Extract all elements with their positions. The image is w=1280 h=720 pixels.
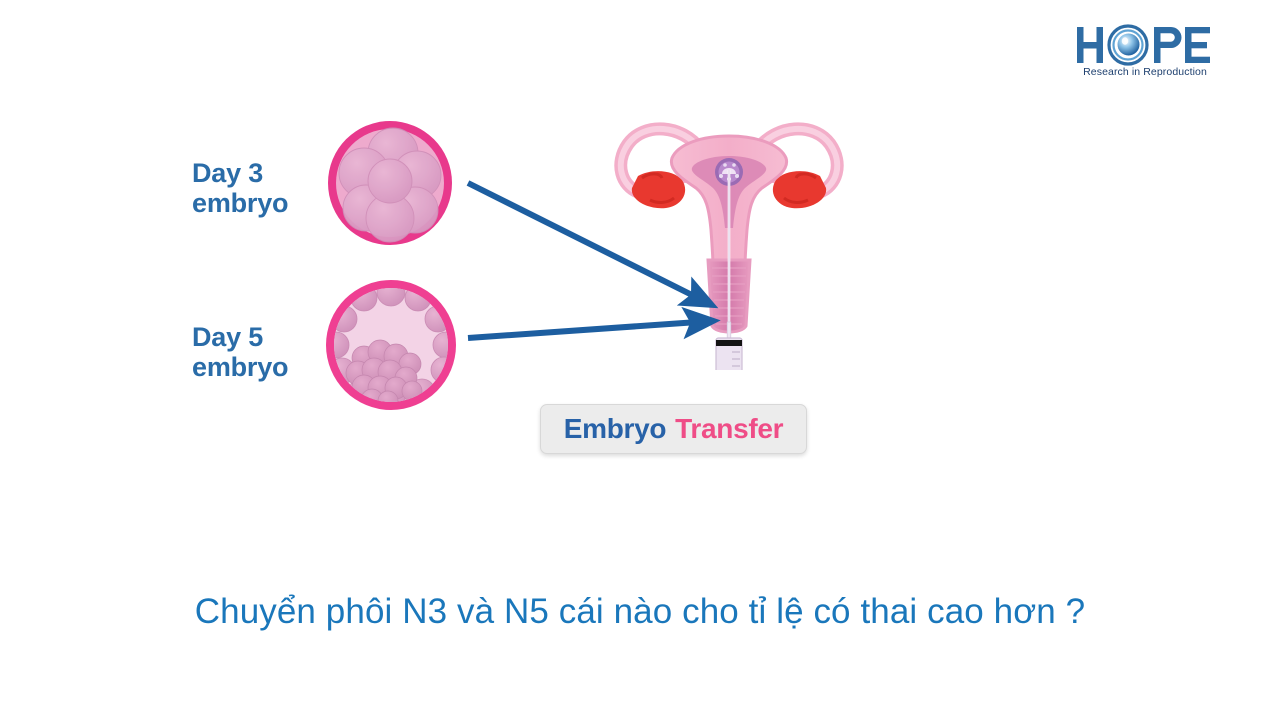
slide-caption: Chuyển phôi N3 và N5 cái nào cho tỉ lệ c… bbox=[0, 592, 1280, 632]
day-3-embryo-illustration bbox=[320, 113, 460, 253]
embryo-transfer-label-box: Embryo Transfer bbox=[540, 404, 807, 454]
embryo-transfer-word-embryo: Embryo bbox=[564, 413, 666, 445]
arrow-day5-to-syringe bbox=[468, 322, 698, 338]
arrow-day3-to-syringe bbox=[468, 183, 698, 298]
transfer-arrows bbox=[440, 160, 740, 360]
day-3-embryo-label: Day 3 embryo bbox=[192, 158, 288, 218]
day-5-embryo-label: Day 5 embryo bbox=[192, 322, 288, 382]
embryo-transfer-word-transfer: Transfer bbox=[675, 413, 783, 445]
embryo-transfer-figure: Day 3 embryo Day 5 embryo bbox=[0, 0, 1280, 560]
